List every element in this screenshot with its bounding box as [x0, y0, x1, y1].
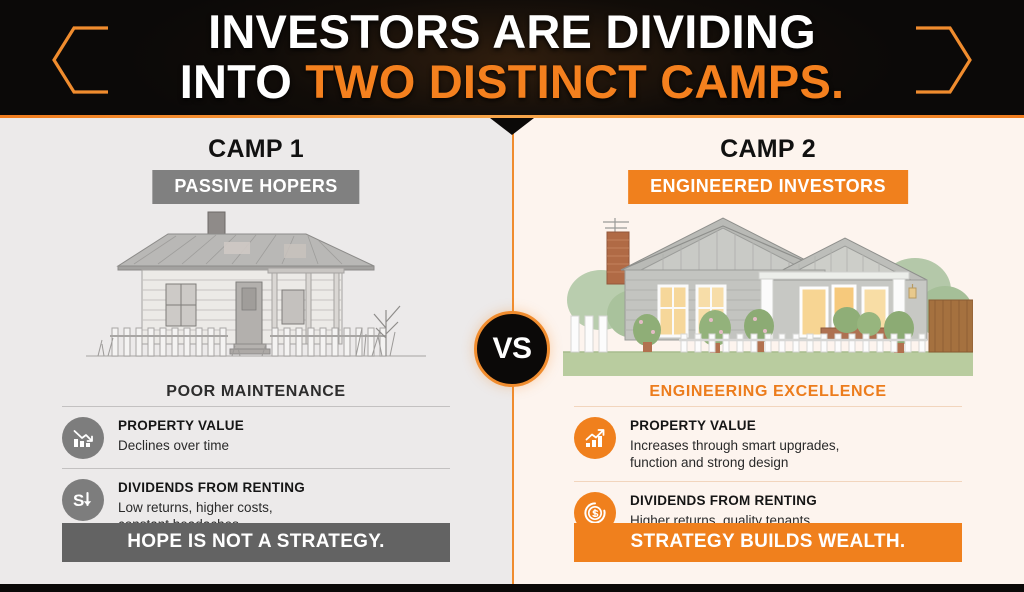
svg-text:S: S	[73, 491, 84, 510]
feature-title: PROPERTY VALUE	[630, 418, 839, 435]
headline-line-2-white: INTO	[180, 55, 305, 108]
header-notch	[490, 118, 534, 135]
camp-1-feature-property-value: PROPERTY VALUE Declines over time	[62, 407, 450, 468]
rising-bar-chart-icon	[574, 417, 616, 459]
camp-2-section-head: ENGINEERING EXCELLENCE	[512, 383, 1024, 401]
camp-1-title: CAMP 1	[0, 135, 512, 164]
dollar-down-arrow-icon: S	[62, 479, 104, 521]
camp-1-banner: HOPE IS NOT A STRATEGY.	[62, 523, 450, 562]
feature-desc: Increases through smart upgrades, functi…	[630, 437, 839, 472]
camp-2-house-image	[512, 204, 1024, 384]
camp-2-title: CAMP 2	[512, 135, 1024, 164]
camp-2-badge: ENGINEERED INVESTORS	[628, 170, 908, 204]
footer-strip	[0, 584, 1024, 592]
camp-1-house-image	[0, 204, 512, 384]
camp-2-panel: CAMP 2 ENGINEERED INVESTORS	[512, 118, 1024, 584]
feature-title: DIVIDENDS FROM RENTING	[118, 480, 305, 497]
headline-line-1: INVESTORS ARE DIVIDING	[208, 5, 816, 58]
camp-1-section-head: POOR MAINTENANCE	[0, 383, 512, 401]
infographic-page: INVESTORS ARE DIVIDING INTO TWO DISTINCT…	[0, 0, 1024, 592]
feature-desc: Declines over time	[118, 437, 244, 455]
run-down-cottage-illustration	[56, 204, 456, 380]
declining-bar-chart-icon	[62, 417, 104, 459]
well-maintained-bungalow-illustration	[563, 204, 973, 380]
vs-badge: VS	[474, 311, 550, 387]
camp-1-badge: PASSIVE HOPERS	[152, 170, 359, 204]
header-banner: INVESTORS ARE DIVIDING INTO TWO DISTINCT…	[0, 0, 1024, 118]
feature-title: DIVIDENDS FROM RENTING	[630, 493, 817, 510]
camp-2-banner: STRATEGY BUILDS WEALTH.	[574, 523, 962, 562]
camp-1-panel: CAMP 1 PASSIVE HOPERS	[0, 118, 512, 584]
page-title: INVESTORS ARE DIVIDING INTO TWO DISTINCT…	[0, 9, 1024, 105]
feature-title: PROPERTY VALUE	[118, 418, 244, 435]
camp-2-feature-property-value: PROPERTY VALUE Increases through smart u…	[574, 407, 962, 481]
headline-line-2-orange: TWO DISTINCT CAMPS.	[305, 55, 844, 108]
